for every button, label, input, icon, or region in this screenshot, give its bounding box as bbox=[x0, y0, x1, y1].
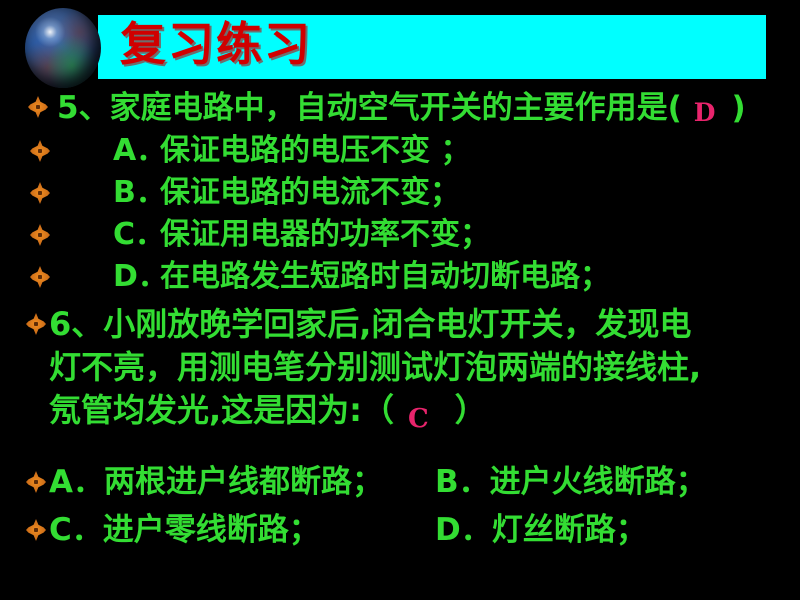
option-label: C． bbox=[49, 512, 103, 548]
option-label: C． bbox=[113, 214, 165, 255]
diamond-bullet-icon bbox=[30, 266, 50, 288]
slide-header: 复习练习 bbox=[0, 0, 800, 95]
title-banner: 复习练习 bbox=[98, 15, 766, 79]
option-text: 两根进户线都断路； bbox=[104, 464, 383, 500]
question-6-answer: C bbox=[394, 404, 455, 434]
option-text: 保证电路的电流不变； bbox=[160, 172, 460, 213]
question-6-stem-line-1: 6、小刚放晚学回家后,闭合电灯开关，发现电 bbox=[49, 303, 691, 346]
option-text: 灯丝断路； bbox=[492, 512, 647, 548]
diamond-bullet-icon bbox=[30, 140, 50, 162]
question-6-option-d[interactable]: D．灯丝断路； bbox=[435, 508, 647, 552]
globe-icon bbox=[25, 8, 101, 88]
option-label: B． bbox=[435, 464, 490, 500]
diamond-bullet-icon bbox=[26, 519, 46, 541]
option-text: 保证电路的电压不变 ； bbox=[160, 130, 470, 171]
option-label: D． bbox=[435, 512, 492, 548]
diamond-bullet-icon bbox=[30, 224, 50, 246]
diamond-bullet-icon bbox=[28, 96, 48, 118]
page-title: 复习练习 bbox=[120, 12, 312, 76]
diamond-bullet-icon bbox=[26, 471, 46, 493]
question-5-answer: D bbox=[682, 98, 732, 127]
diamond-bullet-icon bbox=[26, 313, 46, 335]
option-label: A． bbox=[113, 130, 166, 171]
option-text: 在电路发生短路时自动切断电路； bbox=[160, 256, 610, 297]
option-text: 保证用电器的功率不变； bbox=[160, 214, 490, 255]
question-5-stem-text: 家庭电路中，自动空气开关的主要作用是( bbox=[110, 90, 682, 126]
question-6-stem-line-2: 灯不亮，用测电笔分别测试灯泡两端的接线柱, bbox=[49, 346, 701, 389]
question-6-option-a[interactable]: A．两根进户线都断路； bbox=[49, 460, 383, 504]
question-5-stem: 5、家庭电路中，自动空气开关的主要作用是(D) bbox=[57, 88, 746, 130]
diamond-bullet-icon bbox=[30, 182, 50, 204]
question-5-stem-close: ) bbox=[731, 90, 745, 126]
question-6-option-b[interactable]: B．进户火线断路； bbox=[435, 460, 707, 504]
question-5-number: 5、 bbox=[57, 90, 110, 126]
option-label: B． bbox=[113, 172, 166, 213]
option-text: 进户火线断路； bbox=[490, 464, 707, 500]
question-6-option-c[interactable]: C．进户零线断路； bbox=[49, 508, 320, 552]
question-6-stem-line-3: 氖管均发光,这是因为:（C） bbox=[49, 389, 487, 435]
question-6-stem-line-3-before: 氖管均发光,这是因为:（ bbox=[49, 391, 394, 429]
question-6-stem-line-3-after: ） bbox=[455, 391, 487, 429]
option-text: 进户零线断路； bbox=[103, 512, 320, 548]
option-label: A． bbox=[49, 464, 104, 500]
